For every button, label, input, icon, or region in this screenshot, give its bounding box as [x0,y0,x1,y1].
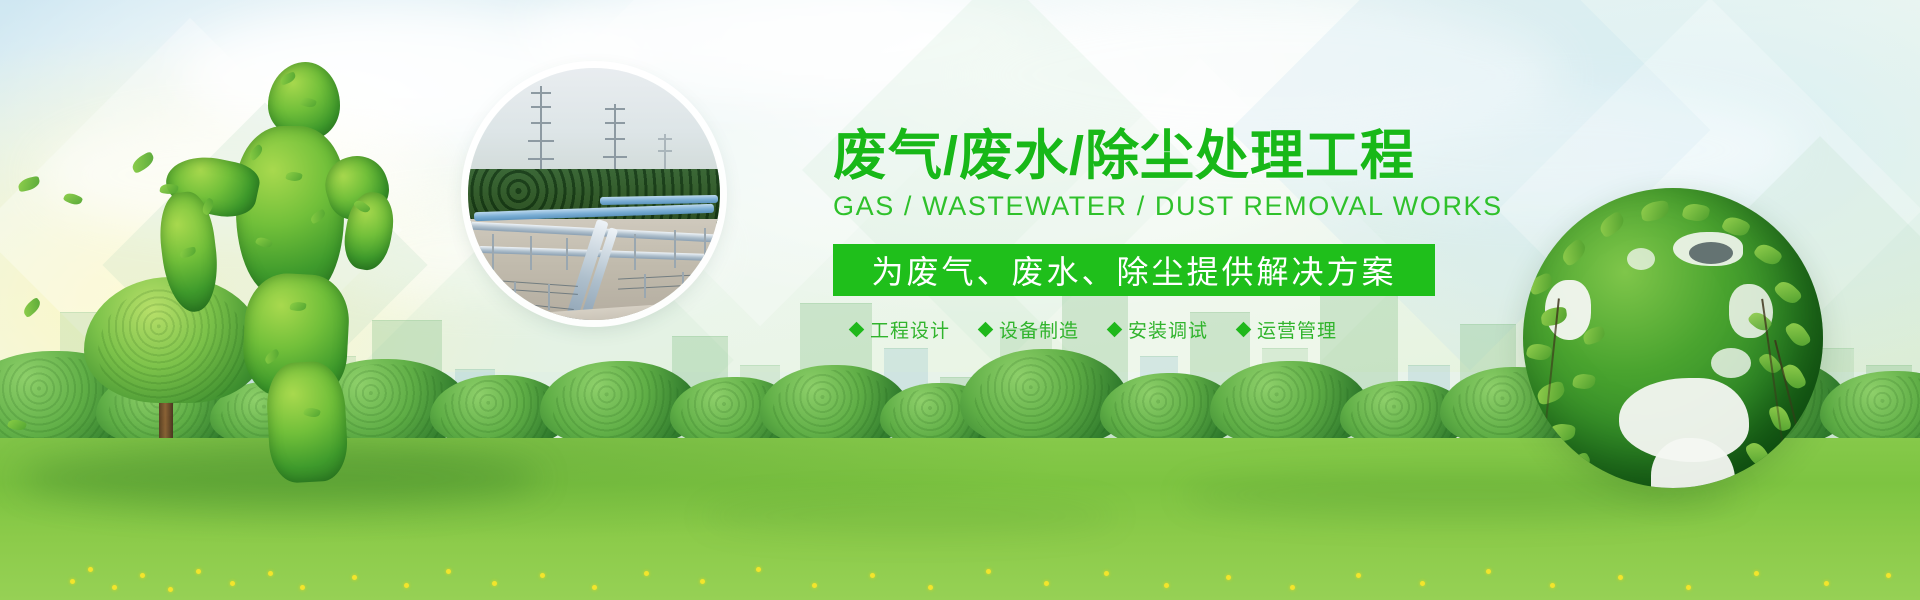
diamond-bullet-icon [849,322,865,338]
list-item-label: 设备制造 [999,316,1079,343]
leaf-man-figure [140,52,390,482]
list-item[interactable]: 工程设计 [851,316,950,343]
tagline-bar: 为废气、废水、除尘提供解决方案 [833,244,1435,296]
green-globe [1523,188,1823,488]
list-item[interactable]: 运营管理 [1238,316,1337,343]
service-bullet-list: 工程设计 设备制造 安装调试 运营管理 [833,316,1453,343]
yellow-flowers [0,540,1920,600]
page-subtitle-english: GAS / WASTEWATER / DUST REMOVAL WORKS [833,191,1453,222]
headline-text-block: 废气/废水/除尘处理工程 GAS / WASTEWATER / DUST REM… [833,128,1453,343]
list-item[interactable]: 设备制造 [980,316,1079,343]
tagline-text: 为废气、废水、除尘提供解决方案 [871,247,1396,293]
diamond-bullet-icon [978,322,994,338]
diamond-bullet-icon [1107,322,1123,338]
page-title: 废气/废水/除尘处理工程 [833,128,1453,185]
environmental-engineering-banner: 废气/废水/除尘处理工程 GAS / WASTEWATER / DUST REM… [0,0,1920,600]
diamond-bullet-icon [1236,322,1252,338]
wastewater-plant-photo [468,68,720,320]
list-item-label: 工程设计 [870,316,950,343]
list-item-label: 安装调试 [1128,316,1208,343]
list-item-label: 运营管理 [1257,316,1337,343]
list-item[interactable]: 安装调试 [1109,316,1208,343]
